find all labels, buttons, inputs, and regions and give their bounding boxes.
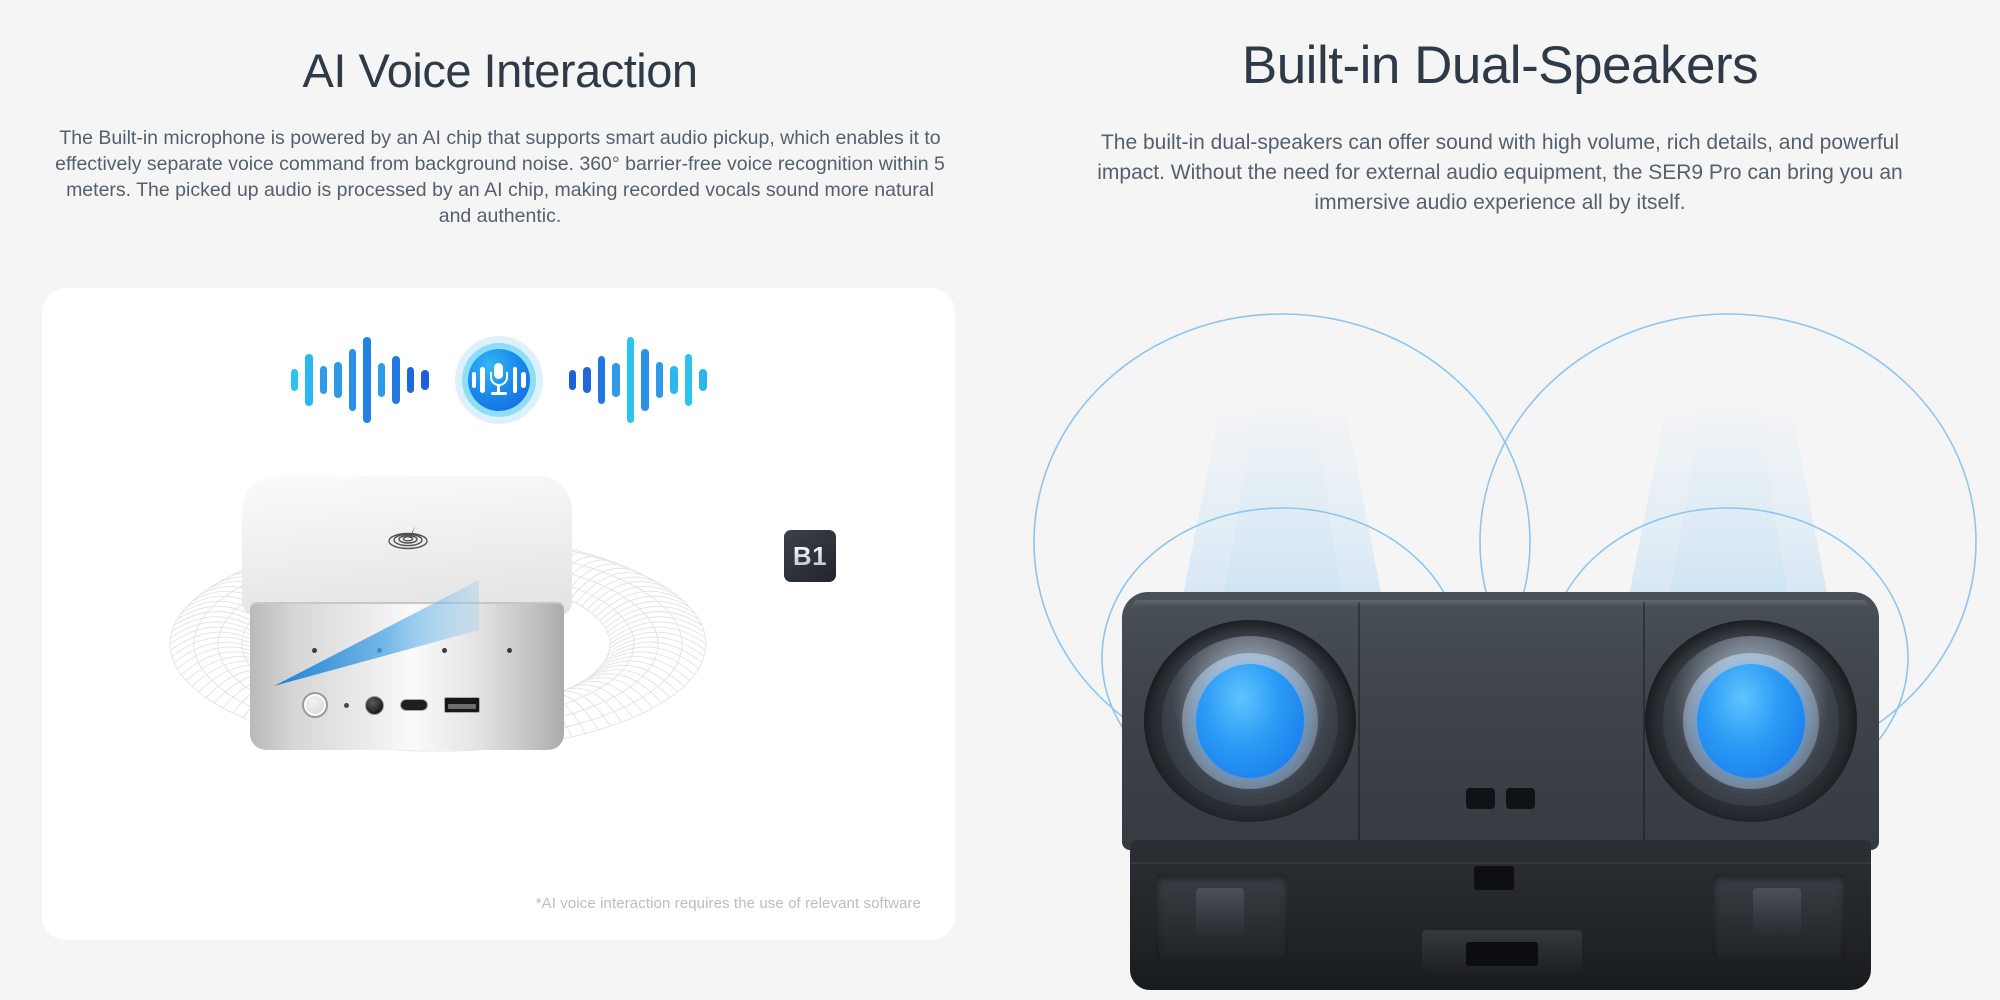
- waveform-bar: [320, 366, 328, 394]
- waveform-bar: [392, 356, 400, 404]
- right-panel-heading: Built-in Dual-Speakers: [1000, 0, 2000, 92]
- waveform-bar: [378, 363, 386, 397]
- speaker-dome-left: [1196, 664, 1304, 778]
- b1-callout-label: B1: [793, 541, 827, 572]
- waveform-bar: [569, 370, 577, 390]
- status-led-icon: [344, 703, 349, 708]
- mic-glyph: [489, 363, 509, 397]
- base-seam-line: [1130, 862, 1871, 864]
- waveform-bar: [421, 370, 429, 390]
- waveform-right: [569, 330, 707, 430]
- ai-voice-interaction-panel: AI Voice Interaction The Built-in microp…: [0, 0, 1000, 1000]
- torus-wire: [592, 665, 678, 692]
- callout-pointer-beam: [274, 574, 479, 694]
- speaker-driver-right: [1645, 620, 1857, 822]
- vent-slot-group: [1466, 788, 1535, 809]
- speaker-illustration-scene: [1000, 250, 2000, 1000]
- torus-wire: [587, 670, 670, 698]
- audio-jack-port[interactable]: [365, 696, 384, 715]
- right-panel-body-text: The built-in dual-speakers can offer sou…: [1085, 128, 1915, 218]
- waveform-bar: [291, 369, 299, 391]
- product-feature-page: AI Voice Interaction The Built-in microp…: [0, 0, 2000, 1000]
- mic-bar-right-outer: [521, 372, 526, 388]
- mic-base: [491, 392, 507, 395]
- base-connector-tab: [1422, 930, 1582, 976]
- mic-arc: [490, 372, 508, 386]
- waveform-bar: [305, 354, 313, 406]
- dual-speaker-unit: [1122, 592, 1879, 994]
- waveform-bar: [334, 362, 342, 398]
- waveform-bar: [612, 363, 620, 397]
- vent-slot: [1466, 788, 1495, 809]
- torus-wire: [570, 681, 644, 713]
- power-button[interactable]: [302, 692, 328, 718]
- microphone-pinhole: [507, 648, 512, 653]
- speaker-base-chassis: [1130, 840, 1871, 990]
- mic-stem: [497, 385, 500, 392]
- left-panel-body-text: The Built-in microphone is powered by an…: [50, 125, 950, 229]
- waveform-left: [291, 330, 429, 430]
- usb-c-port[interactable]: [400, 699, 428, 711]
- left-panel-footnote: *AI voice interaction requires the use o…: [536, 895, 921, 912]
- mounting-foot-right: [1713, 874, 1845, 960]
- ai-voice-illustration-card: B1 *AI voice interaction requires the us…: [42, 288, 955, 940]
- b1-callout-badge: B1: [784, 530, 836, 582]
- waveform-bar: [685, 354, 693, 406]
- waveform-bar: [407, 367, 415, 393]
- waveform-bar: [656, 362, 664, 398]
- speaker-driver-left: [1144, 620, 1356, 822]
- microphone-icon: [455, 336, 543, 424]
- waveform-bar: [699, 369, 707, 391]
- microphone-icon-disc: [468, 349, 530, 411]
- waveform-bar: [641, 349, 649, 411]
- waveform-bar: [363, 337, 371, 423]
- dual-speakers-panel: Built-in Dual-Speakers The built-in dual…: [1000, 0, 2000, 1000]
- usb-a-port[interactable]: [444, 697, 480, 713]
- left-panel-heading: AI Voice Interaction: [0, 0, 1000, 94]
- port-cluster: [302, 692, 480, 718]
- mounting-foot-left: [1156, 874, 1288, 960]
- waveform-bar: [583, 367, 591, 393]
- beelink-swirl-logo: [384, 523, 432, 553]
- mic-bar-left-outer: [472, 372, 477, 388]
- speaker-dome-right: [1697, 664, 1805, 778]
- speaker-front-face: [1122, 592, 1879, 850]
- audio-visualizer-row: [42, 330, 955, 430]
- waveform-bar: [349, 349, 357, 411]
- waveform-bar: [670, 366, 678, 394]
- panel-seam-left: [1358, 602, 1360, 842]
- waveform-bar: [627, 337, 635, 423]
- waveform-bar: [598, 356, 606, 404]
- vent-slot: [1506, 788, 1535, 809]
- mic-bar-left-inner: [480, 367, 485, 393]
- mic-bar-right-inner: [513, 367, 518, 393]
- base-notch: [1474, 866, 1514, 890]
